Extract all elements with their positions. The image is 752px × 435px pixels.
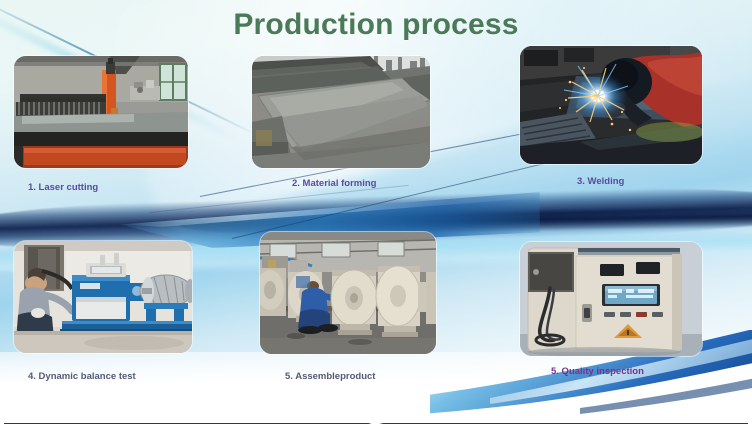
bottom-divider-rule [4, 423, 748, 424]
caption-step-2: 2. Material forming [292, 178, 376, 189]
dynamic-balancing-machine-photo [14, 241, 192, 353]
caption-step-6: 5. Quality inspection [551, 366, 644, 377]
photo-card-material-forming[interactable] [252, 56, 430, 168]
laser-cutting-machine-photo [14, 56, 188, 168]
caption-step-1: 1. Laser cutting [28, 182, 98, 193]
photo-card-quality-inspection[interactable] [520, 242, 702, 356]
caption-step-5: 5. Assembleproduct [285, 371, 375, 382]
photo-card-laser-cutting[interactable] [14, 56, 188, 168]
steel-sheet-stack-photo [252, 56, 430, 168]
fan-housing-assembly-photo [260, 232, 436, 354]
production-process-slide: Production process [0, 0, 752, 435]
photo-card-welding[interactable] [520, 46, 702, 164]
page-title: Production process [0, 8, 752, 42]
control-cabinet-inspection-photo [520, 242, 702, 356]
caption-step-4: 4. Dynamic balance test [28, 371, 136, 382]
photo-card-assemble-product[interactable] [260, 232, 436, 354]
caption-step-3: 3. Welding [577, 176, 624, 187]
photo-card-dynamic-balance-test[interactable] [14, 241, 192, 353]
welding-sparks-photo [520, 46, 702, 164]
